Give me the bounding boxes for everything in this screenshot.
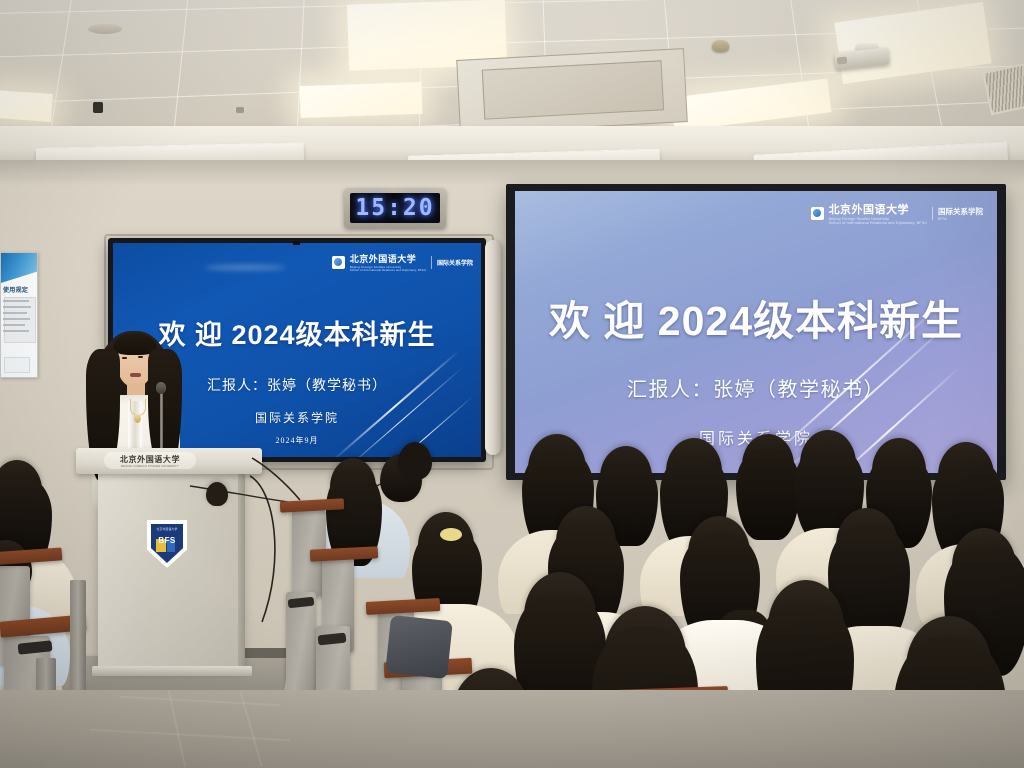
clock-face: 15:20 bbox=[350, 193, 440, 223]
smoke-detector bbox=[712, 40, 729, 52]
tv-slide-logo: 北京外国语大学 Beijing Foreign Studies Universi… bbox=[332, 252, 473, 272]
poster-title: 使用规定 bbox=[3, 285, 28, 294]
ceiling-sensor bbox=[93, 102, 103, 113]
presenter-mouth bbox=[130, 373, 141, 377]
university-name-cn: 北京外国语大学 bbox=[350, 252, 426, 265]
podium-microphone bbox=[156, 382, 166, 394]
poster-footer-box bbox=[4, 357, 30, 373]
poster-header-banner bbox=[1, 253, 37, 283]
audience-hair bbox=[736, 448, 800, 540]
ceiling bbox=[0, 0, 1024, 138]
ceiling-sensor bbox=[236, 107, 244, 113]
university-name-cn: 北京外国语大学 bbox=[829, 201, 927, 217]
floor bbox=[0, 690, 1024, 768]
poster-body-box bbox=[4, 297, 36, 343]
audience-head bbox=[206, 482, 228, 506]
wall-shadow bbox=[0, 160, 1024, 186]
university-seal-icon bbox=[811, 207, 824, 220]
slide-logo: 北京外国语大学 Beijing Foreign Studies Universi… bbox=[811, 201, 983, 225]
school-name-en: School of International Relations and Di… bbox=[350, 269, 426, 272]
audience-head bbox=[398, 442, 432, 480]
ceiling-ac-cassette bbox=[456, 48, 688, 134]
school-abbrev: BFSU bbox=[938, 217, 983, 221]
university-seal-icon bbox=[332, 256, 345, 269]
tv-glare bbox=[205, 265, 285, 270]
ceiling-panel-light bbox=[834, 2, 991, 84]
ceiling-dome bbox=[88, 24, 122, 34]
ceiling-panel-light bbox=[0, 90, 53, 122]
clock-time-display: 15:20 bbox=[355, 195, 434, 221]
wall-poster: 使用规定 bbox=[0, 252, 38, 378]
school-name-en: School of International Relations and Di… bbox=[829, 221, 927, 225]
hair-scrunchie bbox=[440, 528, 462, 541]
student-bag bbox=[385, 615, 453, 679]
school-name-cn: 国际关系学院 bbox=[938, 206, 983, 217]
digital-wall-clock: 15:20 bbox=[344, 188, 446, 228]
lecture-hall-photo: 使用规定 15:20 北京外国语大学 Beijing Foreign Studi… bbox=[0, 0, 1024, 768]
ceiling-panel-light bbox=[299, 82, 422, 118]
school-name-cn: 国际关系学院 bbox=[437, 258, 473, 267]
air-vent bbox=[982, 61, 1024, 116]
tv-camera-icon bbox=[293, 241, 300, 245]
